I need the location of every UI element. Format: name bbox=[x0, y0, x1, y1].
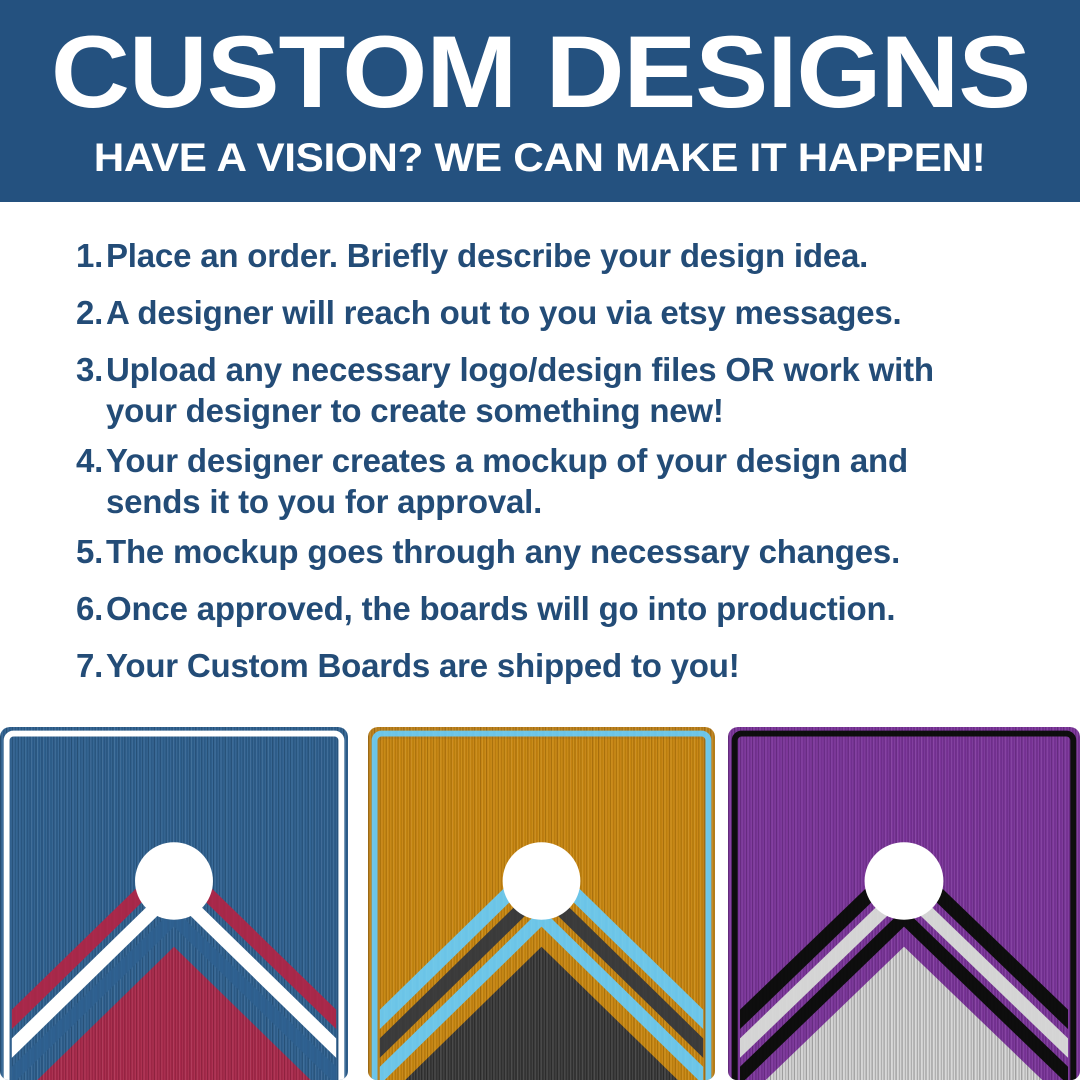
list-item-text: Upload any necessary logo/design files O… bbox=[106, 349, 1006, 431]
list-item-text: The mockup goes through any necessary ch… bbox=[106, 531, 1006, 572]
board-hole bbox=[503, 842, 581, 920]
list-item: 6. Once approved, the boards will go int… bbox=[60, 588, 1020, 629]
list-item: 7. Your Custom Boards are shipped to you… bbox=[60, 645, 1020, 686]
list-item-number: 5. bbox=[60, 531, 106, 572]
list-item-number: 3. bbox=[60, 349, 106, 390]
board-hole bbox=[865, 842, 944, 920]
list-item-text: Place an order. Briefly describe your de… bbox=[106, 235, 1006, 276]
list-item: 4. Your designer creates a mockup of you… bbox=[60, 440, 1020, 522]
list-item-number: 7. bbox=[60, 645, 106, 686]
list-item: 5. The mockup goes through any necessary… bbox=[60, 531, 1020, 572]
page-subtitle: HAVE A VISION? WE CAN MAKE IT HAPPEN! bbox=[94, 138, 986, 178]
board-artwork bbox=[368, 727, 715, 1080]
page-title: CUSTOM DESIGNS bbox=[50, 22, 1029, 124]
list-item-text: Your designer creates a mockup of your d… bbox=[106, 440, 1006, 522]
list-item-text: Your Custom Boards are shipped to you! bbox=[106, 645, 1006, 686]
cornhole-board-preview-1[interactable] bbox=[0, 727, 348, 1080]
list-item: 2. A designer will reach out to you via … bbox=[60, 292, 1020, 333]
custom-designs-infographic: CUSTOM DESIGNS HAVE A VISION? WE CAN MAK… bbox=[0, 0, 1080, 1080]
list-item: 1. Place an order. Briefly describe your… bbox=[60, 235, 1020, 276]
list-item-text: Once approved, the boards will go into p… bbox=[106, 588, 1006, 629]
board-artwork bbox=[0, 727, 348, 1080]
header-banner: CUSTOM DESIGNS HAVE A VISION? WE CAN MAK… bbox=[0, 0, 1080, 202]
list-item-number: 2. bbox=[60, 292, 106, 333]
ordered-steps-list: 1. Place an order. Briefly describe your… bbox=[0, 202, 1080, 720]
cornhole-board-preview-3[interactable] bbox=[728, 727, 1080, 1080]
list-item-number: 1. bbox=[60, 235, 106, 276]
list-item: 3. Upload any necessary logo/design file… bbox=[60, 349, 1020, 431]
list-item-number: 4. bbox=[60, 440, 106, 481]
board-artwork bbox=[728, 727, 1080, 1080]
board-hole bbox=[135, 842, 213, 920]
board-examples-gallery bbox=[0, 720, 1080, 1080]
list-item-text: A designer will reach out to you via ets… bbox=[106, 292, 1006, 333]
cornhole-board-preview-2[interactable] bbox=[368, 727, 715, 1080]
list-item-number: 6. bbox=[60, 588, 106, 629]
